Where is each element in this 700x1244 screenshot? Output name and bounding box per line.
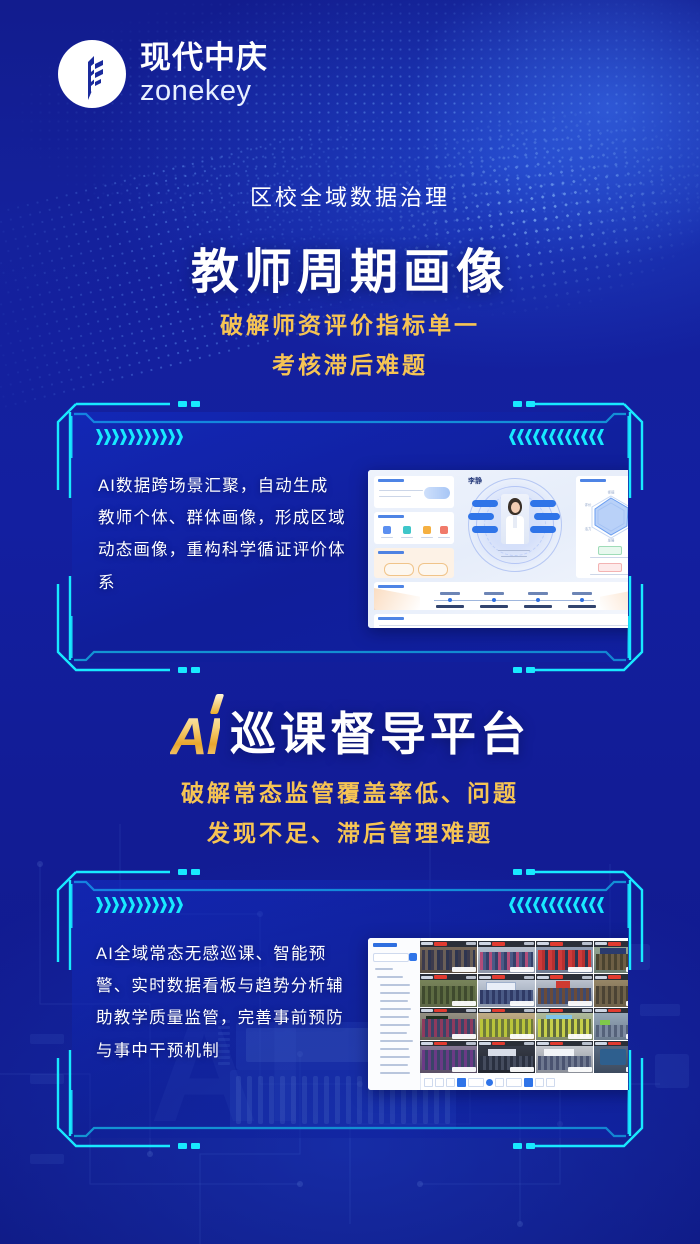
svg-text:师德: 师德 [608,490,615,495]
page-number-2[interactable] [535,1078,544,1087]
feature-card-teacher-profile: AI数据跨场景汇聚，自动生成教师个体、群体画像，形成区域动态画像，重构科学循证评… [50,398,650,676]
section1-eyebrow: 区校全域数据治理 [0,180,700,212]
video-cell[interactable] [420,1008,477,1040]
teacher-profile-dashboard-screenshot: 李静 [368,470,628,628]
section1-subline-1: 破解师资评价指标单一 [0,308,700,344]
video-cell[interactable] [594,941,628,973]
chevrons-left-icon [509,896,604,914]
card-inner-panel: AI全域常态无感巡课、智能预警、实时数据看板与趋势分析辅助教学质量监管，完善事前… [72,880,628,1138]
zonekey-circle-logo-icon [58,40,126,108]
video-cell[interactable] [478,1008,535,1040]
video-cell[interactable] [594,1008,628,1040]
page-current-indicator[interactable] [486,1079,493,1086]
video-cell[interactable] [478,1041,535,1073]
video-cell[interactable] [536,1008,593,1040]
svg-text:评价: 评价 [585,502,592,507]
chevrons-right-icon [96,896,183,914]
page-number-1[interactable] [524,1078,533,1087]
video-cell[interactable] [536,974,593,1006]
patrol-sidebar[interactable] [368,938,421,1090]
ai-logo-text: AI [170,707,220,767]
brand-logo: 现代中庆 zonekey [58,40,268,108]
search-icon[interactable] [409,953,417,961]
page-first-button[interactable] [424,1078,433,1087]
page-number-3[interactable] [546,1078,555,1087]
video-grid[interactable] [420,941,628,1073]
page-more-button[interactable] [495,1078,504,1087]
brand-name-cn: 现代中庆 [140,42,268,75]
video-cell[interactable] [420,941,477,973]
section2-title-rest: 巡课督导平台 [230,698,530,764]
poster-canvas: AI 现代中庆 zonekey [0,0,700,1244]
sidebar-title [373,943,397,947]
section2-title: AI巡课督导平台 [0,698,700,767]
video-cell[interactable] [478,974,535,1006]
section1-subline-2: 考核滞后难题 [0,348,700,384]
layout-select[interactable] [468,1078,484,1087]
grid-layout-button[interactable] [457,1078,466,1087]
section2-subline-2: 发现不足、滞后管理难题 [0,816,700,852]
search-input[interactable] [373,953,409,962]
ai-video-wall-screenshot [368,938,628,1090]
page-size-select[interactable] [506,1078,522,1087]
feature-card-ai-patrol: AI全域常态无感巡课、智能预警、实时数据看板与趋势分析辅助教学质量监管，完善事前… [50,866,650,1152]
page-next-button[interactable] [446,1078,455,1087]
video-cell[interactable] [420,974,477,1006]
live-badge [434,942,447,946]
card1-body-text: AI数据跨场景汇聚，自动生成教师个体、群体画像，形成区域动态画像，重构科学循证评… [98,470,346,599]
section1-headline: 教师周期画像 [0,232,700,302]
video-cell[interactable] [536,1041,593,1073]
brand-name-en: zonekey [140,76,268,106]
video-cell[interactable] [420,1041,477,1073]
page-prev-button[interactable] [435,1078,444,1087]
pagination[interactable] [424,1078,555,1087]
svg-text:发展: 发展 [608,538,615,543]
card-inner-panel: AI数据跨场景汇聚，自动生成教师个体、群体画像，形成区域动态画像，重构科学循证评… [72,412,628,662]
svg-text:活力: 活力 [585,526,592,531]
video-cell[interactable] [594,974,628,1006]
card2-body-text: AI全域常态无感巡课、智能预警、实时数据看板与趋势分析辅助教学质量监管，完善事前… [96,938,352,1067]
video-cell[interactable] [536,941,593,973]
video-cell[interactable] [594,1041,628,1073]
chevrons-right-icon [96,428,183,446]
section2-subline-1: 破解常态监管覆盖率低、问题 [0,776,700,812]
video-cell[interactable] [478,941,535,973]
chevrons-left-icon [509,428,604,446]
